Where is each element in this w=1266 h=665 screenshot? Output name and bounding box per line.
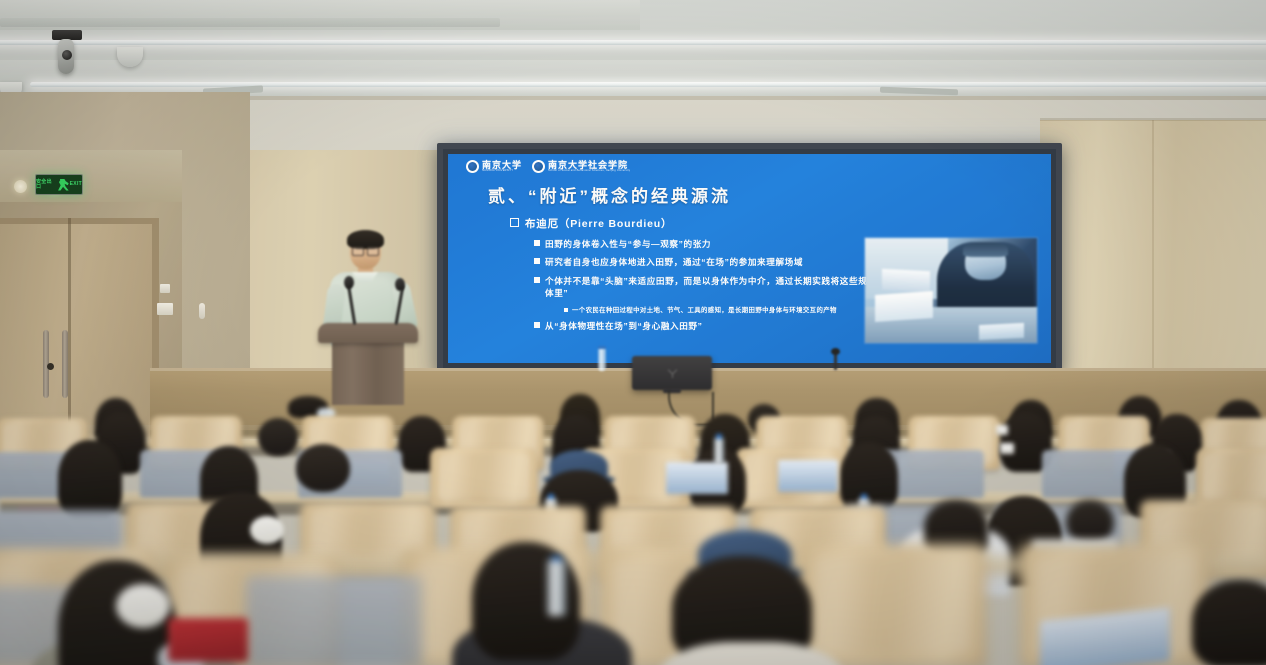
slide-bullet-level2: 研究者自身也应身体地进入田野，通过“在场”的参加来理解场域 xyxy=(534,256,910,268)
wall-trim xyxy=(150,96,1266,100)
red-bag xyxy=(168,618,248,662)
slide-title: 贰、“附近”概念的经典源流 xyxy=(488,182,731,207)
school-name-en: School of Social and Behavioral Sciences… xyxy=(548,170,630,172)
school-logo: 南京大学社会学院 School of Social and Behavioral… xyxy=(532,160,630,173)
door-lock-icon xyxy=(47,363,54,370)
downlight xyxy=(14,180,27,193)
ceiling-slab xyxy=(0,60,1266,82)
running-man-icon xyxy=(58,179,69,191)
slide-logo-bar: 南京大学 NANJING UNIVERSITY 南京大学社会学院 School … xyxy=(466,160,630,173)
slide-body: 布迪厄（Pierre Bourdieu） 田野的身体卷入性与“参与—观察”的张力… xyxy=(510,216,910,339)
projection-screen: 南京大学 NANJING UNIVERSITY 南京大学社会学院 School … xyxy=(437,143,1062,374)
square-filled-bullet-icon xyxy=(534,240,540,246)
camera-lens-icon xyxy=(62,50,72,60)
square-filled-bullet-icon xyxy=(534,277,540,283)
university-logo: 南京大学 NANJING UNIVERSITY xyxy=(466,160,522,173)
exit-sign-label-en: EXIT xyxy=(70,182,82,187)
lecture-hall-photo: 安全出口 EXIT 南京大学 NANJING UNIVERSITY xyxy=(0,0,1266,665)
square-small-bullet-icon xyxy=(564,308,568,312)
wall-sensor xyxy=(199,303,205,319)
slide-bullet-level2-text: 个体并不是靠“头脑”来适应田野，而是以身体作为中介，通过长期实践将这些规则“做进… xyxy=(545,275,910,300)
seat-back xyxy=(246,576,422,665)
slide-bullet-level3: 一个农民在种田过程中对土地、节气、工具的感知，是长期田野中身体与环境交互的产物 xyxy=(564,306,910,316)
ceiling-duct xyxy=(0,18,500,27)
chair xyxy=(430,448,538,508)
exit-sign: 安全出口 EXIT xyxy=(35,174,83,195)
water-bottle xyxy=(714,438,724,464)
monitor-brand-icon xyxy=(666,367,679,380)
slide-bullet-level3-text: 一个农民在种田过程中对土地、节气、工具的感知，是长期田野中身体与环境交互的产物 xyxy=(572,306,837,316)
glasses-icon xyxy=(352,247,379,254)
cup xyxy=(1000,443,1014,454)
light-switch-panel[interactable] xyxy=(157,303,173,315)
square-outline-bullet-icon xyxy=(510,218,519,227)
ceiling-light-strip xyxy=(0,40,1266,45)
microphone-head-icon xyxy=(344,276,354,289)
light-switch[interactable] xyxy=(160,284,170,293)
chair xyxy=(800,544,986,665)
laptop xyxy=(778,460,838,492)
slide-bullet-level1-text: 布迪厄（Pierre Bourdieu） xyxy=(525,216,672,231)
square-filled-bullet-icon xyxy=(534,258,540,264)
square-filled-bullet-icon xyxy=(534,322,540,328)
door-soffit xyxy=(0,150,182,202)
slide-bullet-level2-text: 研究者自身也应身体地进入田野，通过“在场”的参加来理解场域 xyxy=(545,256,803,268)
slide-bullet-level2-text: 从“身体物理性在场”到“身心融入田野” xyxy=(545,320,703,332)
school-of-social-sciences-seal-icon xyxy=(532,160,545,173)
wall-trim xyxy=(1040,118,1266,121)
slide-bullet-level2: 从“身体物理性在场”到“身心融入田野” xyxy=(534,320,910,332)
nanjing-university-seal-icon xyxy=(466,160,479,173)
desk-microphone xyxy=(834,352,837,370)
lectern-body xyxy=(332,342,404,405)
confidence-monitor xyxy=(632,356,712,390)
laptop xyxy=(666,462,728,494)
water-bottle xyxy=(547,560,566,616)
door-seam xyxy=(68,218,71,443)
presentation-slide: 南京大学 NANJING UNIVERSITY 南京大学社会学院 School … xyxy=(448,154,1051,363)
water-bottle xyxy=(598,346,606,371)
door-handle[interactable] xyxy=(62,330,68,398)
ceiling-light-strip xyxy=(30,82,1266,87)
pierre-bourdieu-portrait xyxy=(865,238,1037,343)
slide-bullet-level1: 布迪厄（Pierre Bourdieu） xyxy=(510,216,910,231)
slide-bullet-level2: 田野的身体卷入性与“参与—观察”的张力 xyxy=(534,238,910,250)
exit-sign-label-cn: 安全出口 xyxy=(36,180,57,190)
chair xyxy=(1196,448,1266,508)
microphone-head-icon xyxy=(395,278,405,291)
cup xyxy=(996,425,1008,435)
lectern-top xyxy=(318,323,418,343)
slide-bullet-level2: 个体并不是靠“头脑”来适应田野，而是以身体作为中介，通过长期实践将这些规则“做进… xyxy=(534,275,910,300)
slide-bullet-level2-text: 田野的身体卷入性与“参与—观察”的张力 xyxy=(545,238,711,250)
university-name-en: NANJING UNIVERSITY xyxy=(482,170,522,172)
lectern xyxy=(318,323,418,405)
